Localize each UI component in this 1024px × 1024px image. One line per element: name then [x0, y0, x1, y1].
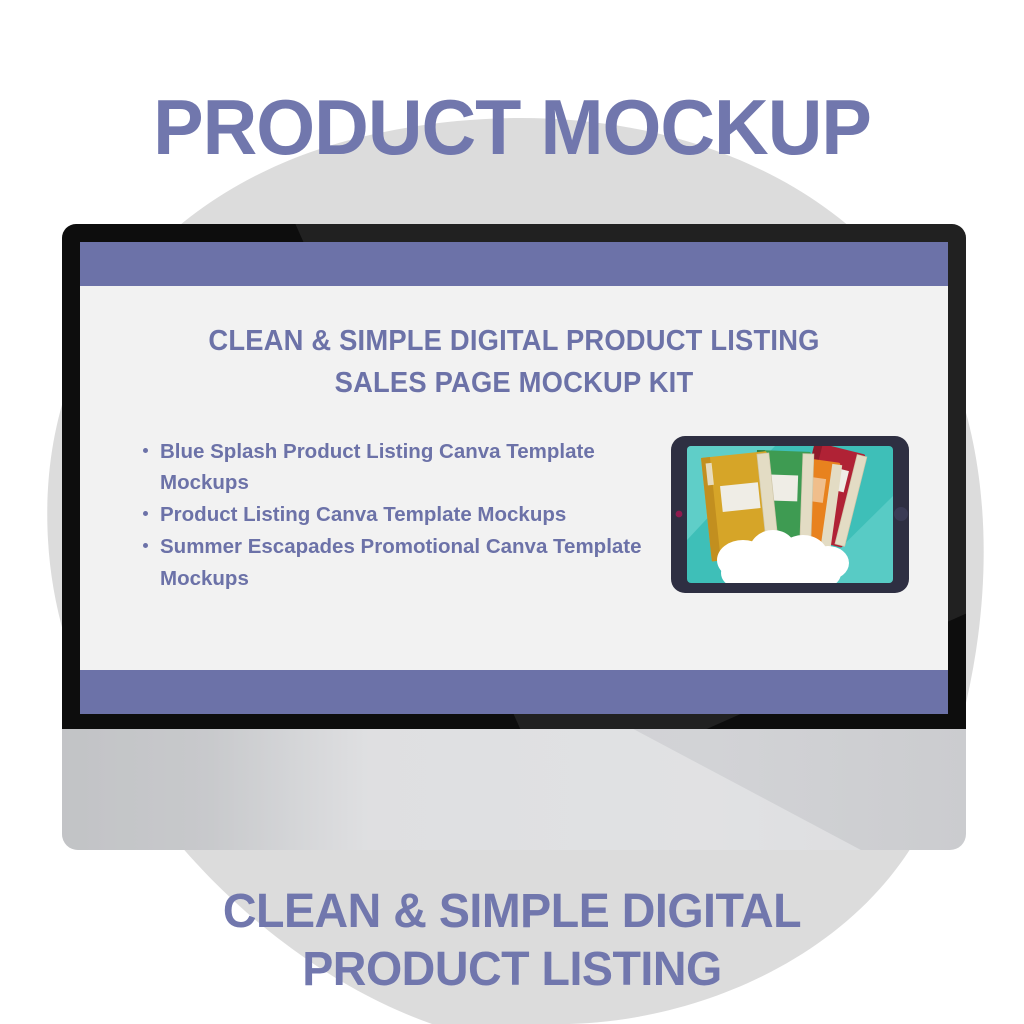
screen-heading-line-1: CLEAN & SIMPLE DIGITAL PRODUCT LISTING — [97, 320, 930, 362]
caption-line-1: CLEAN & SIMPLE DIGITAL — [15, 883, 1008, 942]
screen-bottom-band — [80, 670, 948, 714]
caption-line-2: PRODUCT LISTING — [15, 941, 1008, 1000]
camera-dot-icon — [676, 511, 683, 518]
list-item: Product Listing Canva Template Mockups — [142, 499, 662, 530]
tablet-with-books-illustration — [665, 432, 915, 597]
bullet-text: Product Listing Canva Template Mockups — [160, 503, 566, 526]
monitor-chin — [62, 729, 966, 850]
monitor-screen: CLEAN & SIMPLE DIGITAL PRODUCT LISTING S… — [80, 242, 948, 714]
page-title: PRODUCT MOCKUP — [15, 88, 1008, 166]
screen-heading-line-2: SALES PAGE MOCKUP KIT — [97, 362, 930, 404]
list-item: Summer Escapades Promotional Canva Templ… — [142, 531, 662, 593]
monitor-chin-highlight — [62, 729, 966, 850]
monitor-bezel: CLEAN & SIMPLE DIGITAL PRODUCT LISTING S… — [62, 224, 966, 729]
list-item: Blue Splash Product Listing Canva Templa… — [142, 436, 662, 498]
bullet-text: Summer Escapades Promotional Canva Templ… — [160, 535, 642, 589]
feature-bullet-list: Blue Splash Product Listing Canva Templa… — [142, 436, 662, 595]
screen-heading: CLEAN & SIMPLE DIGITAL PRODUCT LISTING S… — [97, 320, 930, 404]
screen-top-band — [80, 242, 948, 286]
bullet-text: Blue Splash Product Listing Canva Templa… — [160, 440, 595, 494]
bottom-caption: CLEAN & SIMPLE DIGITAL PRODUCT LISTING — [15, 883, 1008, 1000]
monitor-mockup: CLEAN & SIMPLE DIGITAL PRODUCT LISTING S… — [62, 224, 966, 874]
home-button-icon — [894, 507, 908, 521]
